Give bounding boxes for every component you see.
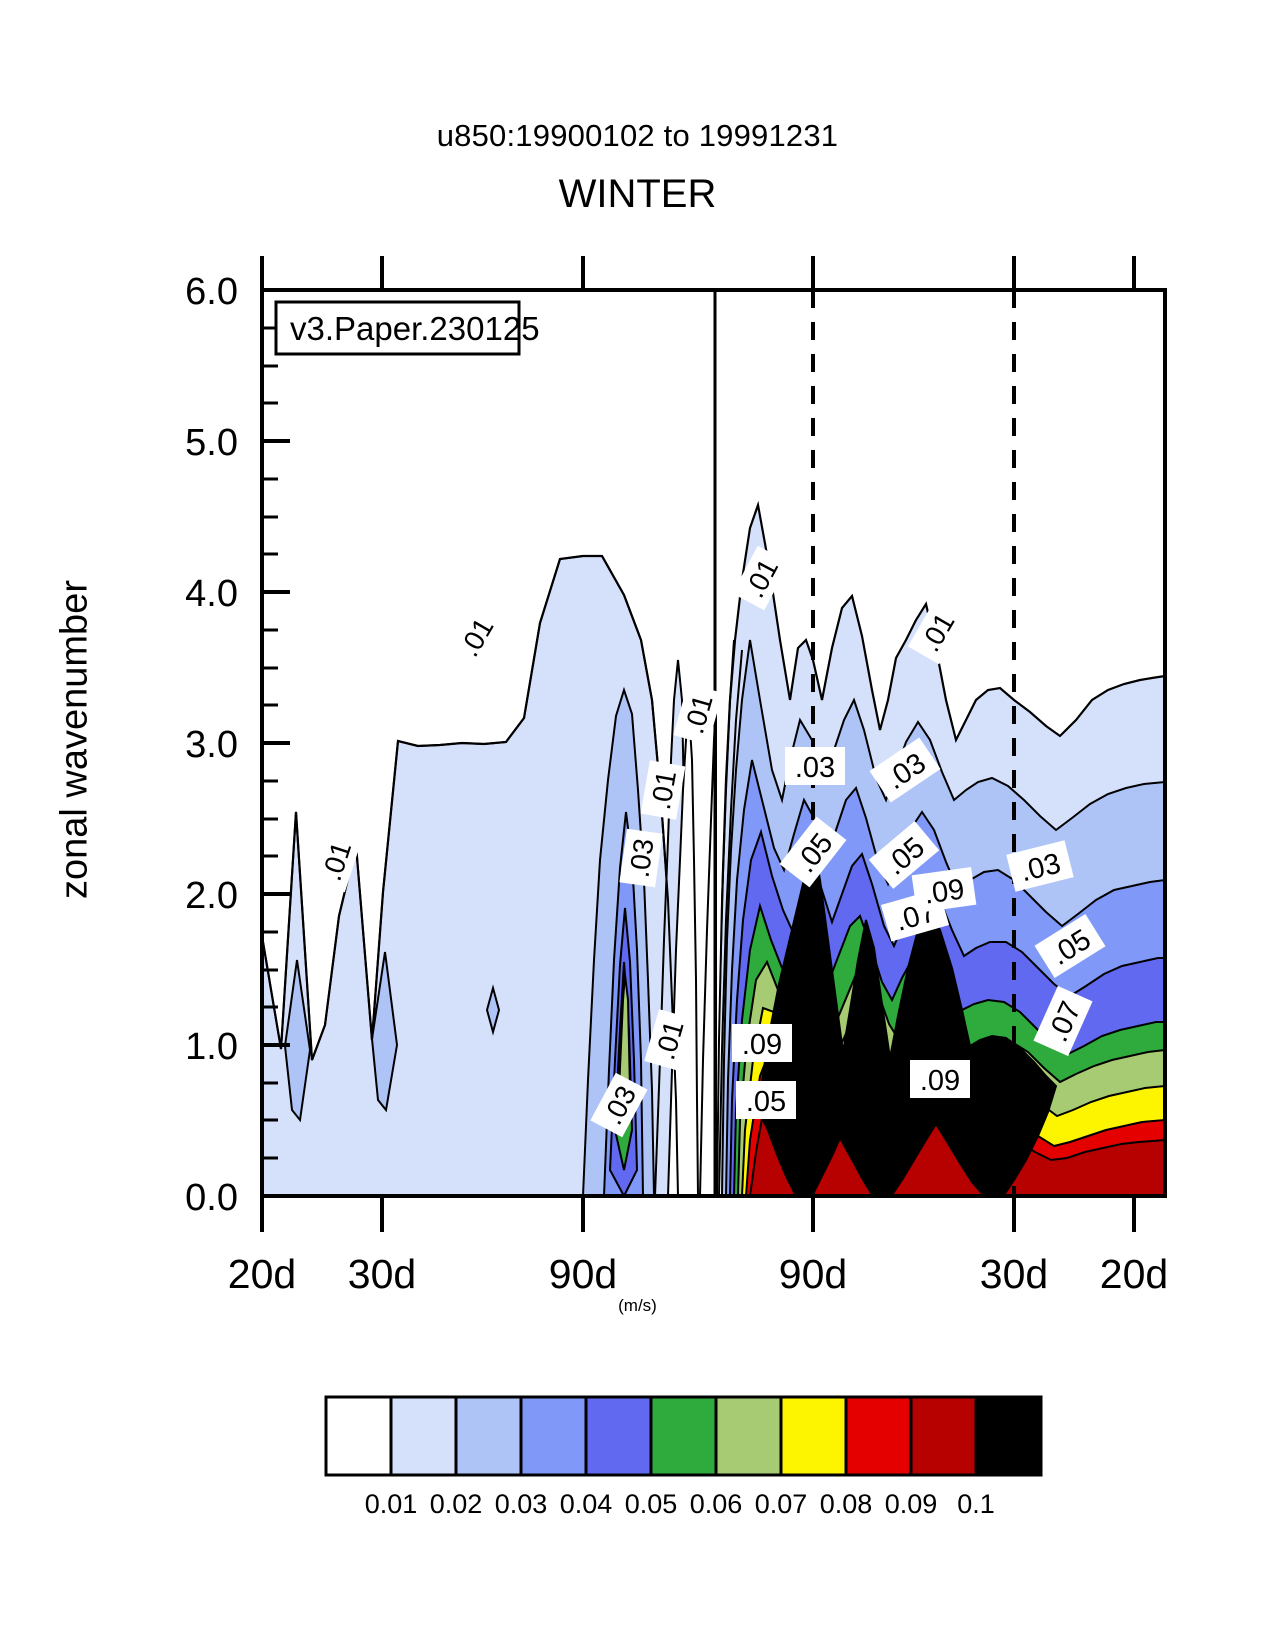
contour-label: .03 [785, 747, 845, 785]
svg-text:0.03: 0.03 [495, 1489, 548, 1519]
svg-text:0.07: 0.07 [755, 1489, 808, 1519]
colorbar-swatch-2[interactable] [456, 1397, 521, 1475]
page-subtitle: WINTER [0, 172, 1275, 217]
svg-text:0.05: 0.05 [625, 1489, 678, 1519]
svg-text:0.0: 0.0 [185, 1177, 238, 1219]
svg-text:0.06: 0.06 [690, 1489, 743, 1519]
colorbar-units-label: (m/s) [0, 1296, 1275, 1316]
x-axis-tick-labels: 20d 30d 90d 90d 30d 20d [228, 1251, 1168, 1297]
contour-label: .09 [732, 1024, 792, 1062]
y-axis-label: zonal wavenumber [54, 400, 97, 1080]
svg-text:5.0: 5.0 [185, 422, 238, 464]
svg-text:0.02: 0.02 [430, 1489, 483, 1519]
svg-text:.09: .09 [742, 1029, 782, 1061]
colorbar-swatch-6[interactable] [716, 1397, 781, 1475]
svg-text:6.0: 6.0 [185, 271, 238, 313]
annotation-label: v3.Paper.230125 [290, 310, 540, 347]
svg-text:2.0: 2.0 [185, 875, 238, 917]
svg-text:0.04: 0.04 [560, 1489, 613, 1519]
colorbar-swatch-7[interactable] [781, 1397, 846, 1475]
svg-text:3.0: 3.0 [185, 724, 238, 766]
y-axis-tick-labels: 0.0 1.0 2.0 3.0 4.0 5.0 6.0 [185, 271, 238, 1219]
colorbar-swatch-5[interactable] [651, 1397, 716, 1475]
svg-text:30d: 30d [348, 1251, 416, 1297]
colorbar-swatch-8[interactable] [846, 1397, 911, 1475]
svg-text:.09: .09 [922, 873, 966, 910]
contour-label: .05 [736, 1081, 796, 1119]
contour-label: .09 [910, 1060, 970, 1098]
colorbar-swatch-3[interactable] [521, 1397, 586, 1475]
annotation-box[interactable]: v3.Paper.230125 [276, 302, 540, 354]
svg-text:.03: .03 [623, 837, 659, 880]
svg-text:1.0: 1.0 [185, 1026, 238, 1068]
svg-text:20d: 20d [1100, 1251, 1168, 1297]
svg-text:.05: .05 [746, 1086, 786, 1118]
svg-text:90d: 90d [549, 1251, 617, 1297]
svg-text:20d: 20d [228, 1251, 296, 1297]
colorbar-tick-labels: 0.01 0.02 0.03 0.04 0.05 0.06 0.07 0.08 … [365, 1489, 995, 1519]
colorbar[interactable]: 0.01 0.02 0.03 0.04 0.05 0.06 0.07 0.08 … [326, 1397, 1041, 1519]
svg-text:90d: 90d [779, 1251, 847, 1297]
contour-plot: .01 .01 .01 .03 .03 .01 [0, 0, 1275, 1650]
svg-text:0.01: 0.01 [365, 1489, 418, 1519]
svg-text:30d: 30d [980, 1251, 1048, 1297]
contour-label: .03 [619, 829, 662, 887]
svg-text:.09: .09 [920, 1065, 960, 1097]
colorbar-swatch-4[interactable] [586, 1397, 651, 1475]
colorbar-swatch-0[interactable] [326, 1397, 391, 1475]
svg-text:0.08: 0.08 [820, 1489, 873, 1519]
svg-text:0.1: 0.1 [957, 1489, 995, 1519]
svg-text:.03: .03 [795, 752, 835, 784]
svg-text:4.0: 4.0 [185, 573, 238, 615]
colorbar-swatch-10[interactable] [976, 1397, 1041, 1475]
svg-text:0.09: 0.09 [885, 1489, 938, 1519]
page-title: u850:19900102 to 19991231 [0, 118, 1275, 154]
colorbar-swatch-1[interactable] [391, 1397, 456, 1475]
colorbar-swatch-9[interactable] [911, 1397, 976, 1475]
